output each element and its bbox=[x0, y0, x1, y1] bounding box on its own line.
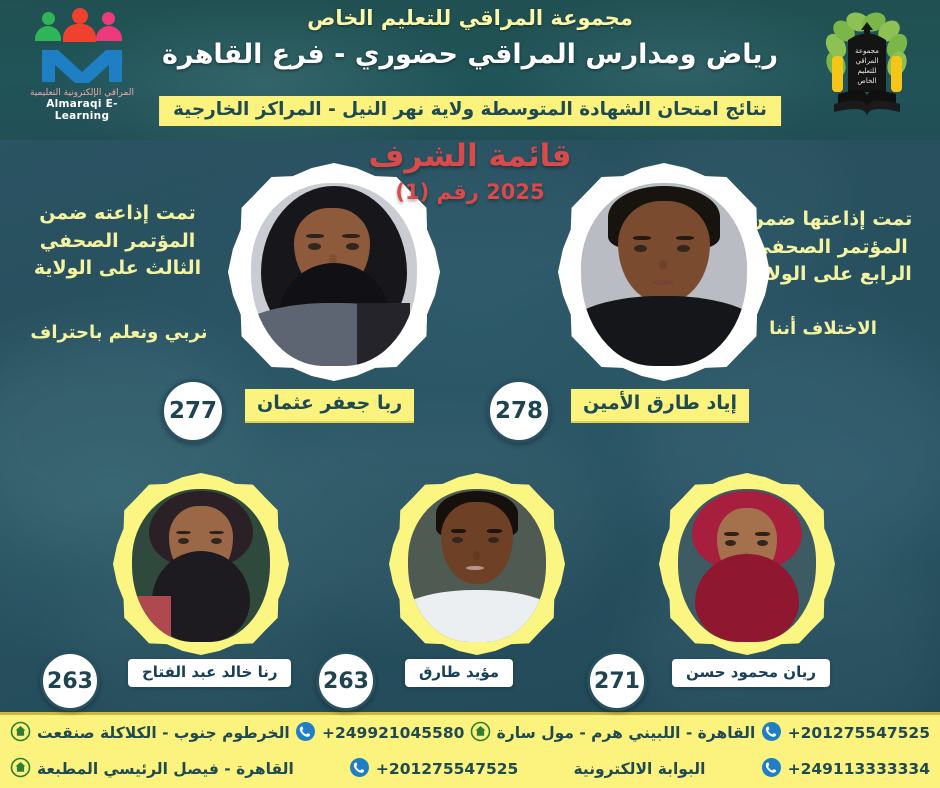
student-photo-frame bbox=[659, 473, 835, 655]
home-icon bbox=[10, 721, 31, 746]
student-photo-frame bbox=[113, 473, 289, 655]
student-score: 271 bbox=[587, 651, 647, 711]
footer-address-khartoum: الخرطوم جنوب - الكلاكلة صنقعت bbox=[10, 721, 290, 746]
phone-icon bbox=[295, 721, 316, 746]
header-bar: المراقي الإلكترونية التعليمية Almaraqi E… bbox=[0, 0, 940, 140]
footer-phone-number: +249113333334 bbox=[788, 760, 930, 778]
footer-address-cairo-sara: القاهرة - اللبيني هرم - مول سارة bbox=[470, 721, 756, 746]
header-title-block: مجموعة المراقي للتعليم الخاص رياض ومدارس… bbox=[0, 6, 940, 70]
student-score: 277 bbox=[161, 379, 225, 443]
svg-text:الخاص: الخاص bbox=[857, 77, 876, 85]
footer-address-label: القاهرة - اللبيني هرم - مول سارة bbox=[497, 724, 756, 742]
footer-phone-cairo-sara[interactable]: +201275547525 bbox=[761, 721, 930, 746]
student-portrait bbox=[132, 489, 269, 642]
svg-text:للتعليم: للتعليم bbox=[857, 67, 876, 75]
footer-row-1: +201275547525 القاهرة - اللبيني هرم - مو… bbox=[0, 715, 940, 751]
honor-list-title-block: قائمة الشرف 2025 رقم (1) bbox=[0, 141, 940, 204]
footer-phone-number: +201275547525 bbox=[376, 760, 518, 778]
student-score: 263 bbox=[40, 651, 100, 711]
logo-arabic-name: المراقي الإلكترونية التعليمية bbox=[22, 88, 142, 98]
student-name-badge: إياد طارق الأمين bbox=[571, 389, 749, 423]
student-photo-frame bbox=[389, 473, 565, 655]
phone-icon bbox=[761, 721, 782, 746]
footer-row-2: +249113333334 البوابة الالكترونية +20127… bbox=[0, 751, 940, 787]
student-portrait bbox=[678, 489, 815, 642]
student-portrait bbox=[251, 183, 416, 366]
footer-address-label: القاهرة - فيصل الرئيسي المطبعة bbox=[37, 760, 294, 778]
footer-portal-label: البوابة الالكترونية bbox=[573, 760, 705, 778]
svg-text:المراقي: المراقي bbox=[855, 57, 878, 65]
student-name-badge: ربا جعفر عثمان bbox=[245, 389, 414, 423]
footer-address-cairo-faisal: القاهرة - فيصل الرئيسي المطبعة bbox=[10, 757, 294, 782]
footer-phone-portal[interactable]: +249113333334 bbox=[761, 757, 930, 782]
phone-icon bbox=[761, 757, 782, 782]
organization-name: مجموعة المراقي للتعليم الخاص bbox=[0, 6, 940, 30]
footer-phone-number: +201275547525 bbox=[788, 724, 930, 742]
left-broadcast-note: تمت إذاعته ضمن المؤتمر الصحفي الثالث على… bbox=[10, 200, 225, 283]
right-pillar bbox=[891, 56, 902, 92]
footer-portal-label-cell: البوابة الالكترونية bbox=[573, 760, 705, 778]
student-portrait bbox=[408, 489, 545, 642]
logo-english-name: Almaraqi E-Learning bbox=[22, 98, 142, 122]
left-slogan: نربي ونعلم باحتراف bbox=[14, 322, 224, 343]
home-icon bbox=[10, 757, 31, 782]
honor-list-edition: 2025 رقم (1) bbox=[0, 180, 940, 204]
branch-name: رياض ومدارس المراقي حضوري - فرع القاهرة bbox=[0, 39, 940, 70]
student-name-badge: رنا خالد عبد الفتاح bbox=[128, 659, 291, 687]
student-score: 263 bbox=[316, 651, 376, 711]
footer-address-label: الخرطوم جنوب - الكلاكلة صنقعت bbox=[37, 724, 290, 742]
student-name-badge: ريان محمود حسن bbox=[672, 659, 830, 687]
student-portrait bbox=[581, 183, 746, 366]
student-score: 278 bbox=[487, 379, 551, 443]
footer-phone-number: +249921045580 bbox=[322, 724, 464, 742]
footer-phone-cairo-faisal[interactable]: +201275547525 bbox=[349, 757, 518, 782]
home-icon bbox=[470, 721, 491, 746]
poster-root: المراقي الإلكترونية التعليمية Almaraqi E… bbox=[0, 0, 940, 788]
footer-contact-bar: +201275547525 القاهرة - اللبيني هرم - مو… bbox=[0, 712, 940, 788]
student-name-badge: مؤيد طارق bbox=[405, 659, 513, 687]
svg-text:مجموعة: مجموعة bbox=[855, 47, 879, 55]
results-banner: نتائج امتحان الشهادة المتوسطة ولاية نهر … bbox=[159, 96, 781, 126]
phone-icon bbox=[349, 757, 370, 782]
footer-phone-khartoum[interactable]: +249921045580 bbox=[295, 721, 464, 746]
left-pillar bbox=[832, 56, 843, 92]
almaraqi-crest-logo: مجموعة المراقي للتعليم الخاص bbox=[812, 6, 922, 124]
honor-list-title: قائمة الشرف bbox=[0, 141, 940, 172]
